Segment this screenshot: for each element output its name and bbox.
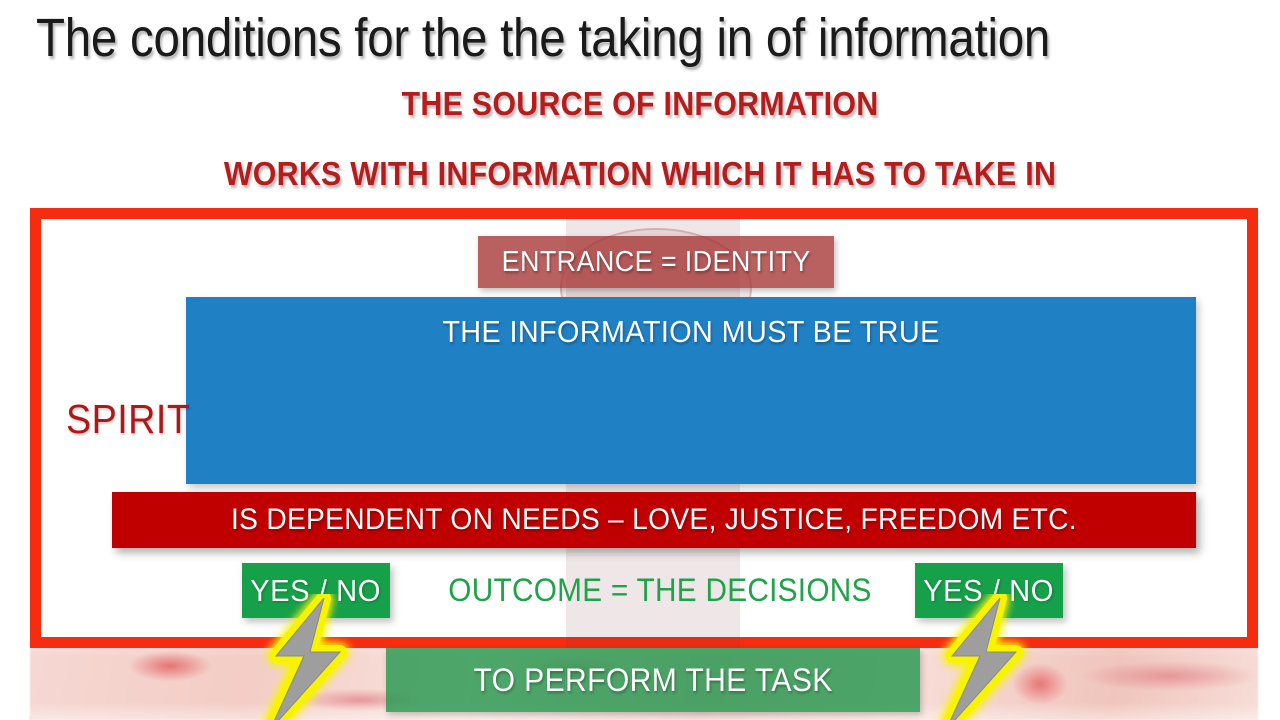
page-title: The conditions for the the taking in of … <box>36 4 1004 72</box>
spirit-label: SPIRIT <box>66 396 190 442</box>
entrance-identity-label: ENTRANCE = IDENTITY <box>501 246 810 279</box>
blue-box-label: THE INFORMATION MUST BE TRUE <box>221 313 1160 351</box>
needs-bar-label: IS DEPENDENT ON NEEDS – LOVE, JUSTICE, F… <box>231 503 1077 537</box>
entrance-identity-badge: ENTRANCE = IDENTITY <box>478 236 834 288</box>
lightning-bolt-icon <box>252 594 362 720</box>
perform-task-label: TO PERFORM THE TASK <box>473 662 832 699</box>
outcome-decisions-label: OUTCOME = THE DECISIONS <box>437 568 883 612</box>
information-must-be-true-box: THE INFORMATION MUST BE TRUE <box>186 297 1196 484</box>
lightning-bolt-icon <box>928 594 1038 720</box>
dependent-on-needs-bar: IS DEPENDENT ON NEEDS – LOVE, JUSTICE, F… <box>112 492 1196 548</box>
perform-task-box: TO PERFORM THE TASK <box>386 648 920 712</box>
subtitle-source-of-information: THE SOURCE OF INFORMATION <box>51 84 1229 124</box>
subtitle-works-with-information: WORKS WITH INFORMATION WHICH IT HAS TO T… <box>51 154 1229 194</box>
slide-canvas: The conditions for the the taking in of … <box>0 0 1280 720</box>
